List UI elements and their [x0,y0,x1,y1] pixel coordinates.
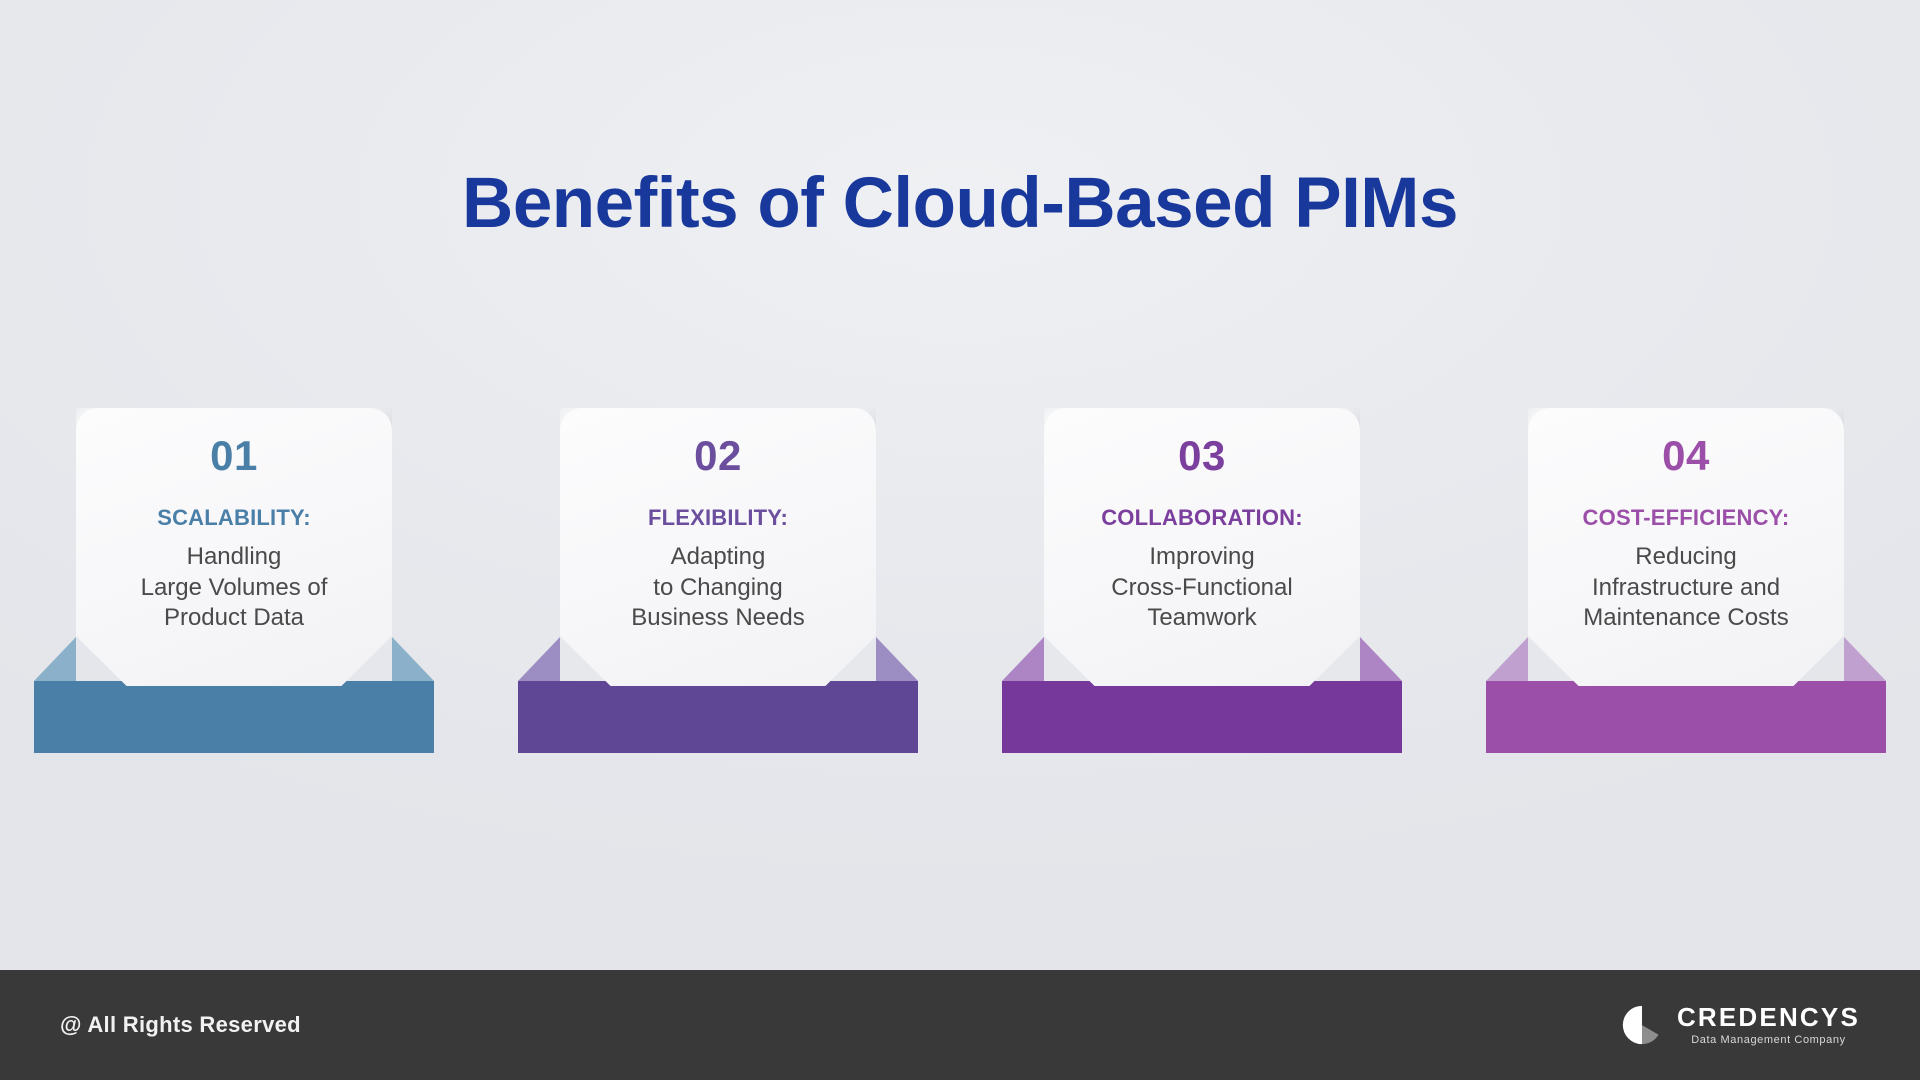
ribbon-fold-left-4 [1486,637,1528,681]
card-number-4: 04 [1528,434,1844,478]
card-body-2: Adapting to Changing Business Needs [560,542,876,633]
card-number-1: 01 [76,434,392,478]
card-body-line: Maintenance Costs [1540,603,1832,633]
footer-bar: @ All Rights Reserved CREDENCYS Data Man… [0,970,1920,1080]
title-container: Benefits of Cloud-Based PIMs [0,168,1920,239]
benefit-cards-row: 01 SCALABILITY: Handling Large Volumes o… [0,408,1920,753]
benefit-card-4[interactable]: 04 COST-EFFICIENCY: Reducing Infrastruct… [1486,408,1886,753]
card-face-4[interactable]: 04 COST-EFFICIENCY: Reducing Infrastruct… [1528,408,1844,686]
copyright-text: @ All Rights Reserved [60,1012,301,1038]
slide-root: Benefits of Cloud-Based PIMs 01 SCALABIL… [0,0,1920,1080]
card-heading-1: SCALABILITY: [76,506,392,530]
ribbon-fold-right-4 [1844,637,1886,681]
card-body-line: Reducing [1540,542,1832,572]
logo-tagline: Data Management Company [1677,1035,1860,1046]
ribbon-fold-right-3 [1360,637,1402,681]
card-face-2[interactable]: 02 FLEXIBILITY: Adapting to Changing Bus… [560,408,876,686]
ribbon-band-1 [34,681,434,753]
card-face-3[interactable]: 03 COLLABORATION: Improving Cross-Functi… [1044,408,1360,686]
card-body-line: Teamwork [1056,603,1348,633]
card-body-3: Improving Cross-Functional Teamwork [1044,542,1360,633]
card-body-line: Improving [1056,542,1348,572]
benefit-card-2[interactable]: 02 FLEXIBILITY: Adapting to Changing Bus… [518,408,918,753]
ribbon-band-3 [1002,681,1402,753]
card-body-line: Infrastructure and [1540,573,1832,603]
credencys-logo: CREDENCYS Data Management Company [1619,1002,1860,1048]
page-title: Benefits of Cloud-Based PIMs [0,168,1920,239]
card-heading-2: FLEXIBILITY: [560,506,876,530]
card-body-line: Large Volumes of [88,573,380,603]
ribbon-fold-left-3 [1002,637,1044,681]
card-body-line: Adapting [572,542,864,572]
card-number-2: 02 [560,434,876,478]
card-body-line: Business Needs [572,603,864,633]
ribbon-band-4 [1486,681,1886,753]
ribbon-band-2 [518,681,918,753]
ribbon-fold-right-2 [876,637,918,681]
benefit-card-3[interactable]: 03 COLLABORATION: Improving Cross-Functi… [1002,408,1402,753]
card-body-line: to Changing [572,573,864,603]
ribbon-fold-left-1 [34,637,76,681]
card-body-line: Handling [88,542,380,572]
card-body-line: Product Data [88,603,380,633]
card-number-3: 03 [1044,434,1360,478]
card-body-1: Handling Large Volumes of Product Data [76,542,392,633]
card-heading-3: COLLABORATION: [1044,506,1360,530]
card-face-1[interactable]: 01 SCALABILITY: Handling Large Volumes o… [76,408,392,686]
ribbon-fold-left-2 [518,637,560,681]
logo-name: CREDENCYS [1677,1004,1860,1030]
card-body-line: Cross-Functional [1056,573,1348,603]
credencys-circle-icon [1619,1002,1665,1048]
benefit-card-1[interactable]: 01 SCALABILITY: Handling Large Volumes o… [34,408,434,753]
logo-text-block: CREDENCYS Data Management Company [1677,1004,1860,1046]
ribbon-fold-right-1 [392,637,434,681]
card-body-4: Reducing Infrastructure and Maintenance … [1528,542,1844,633]
card-heading-4: COST-EFFICIENCY: [1528,506,1844,530]
